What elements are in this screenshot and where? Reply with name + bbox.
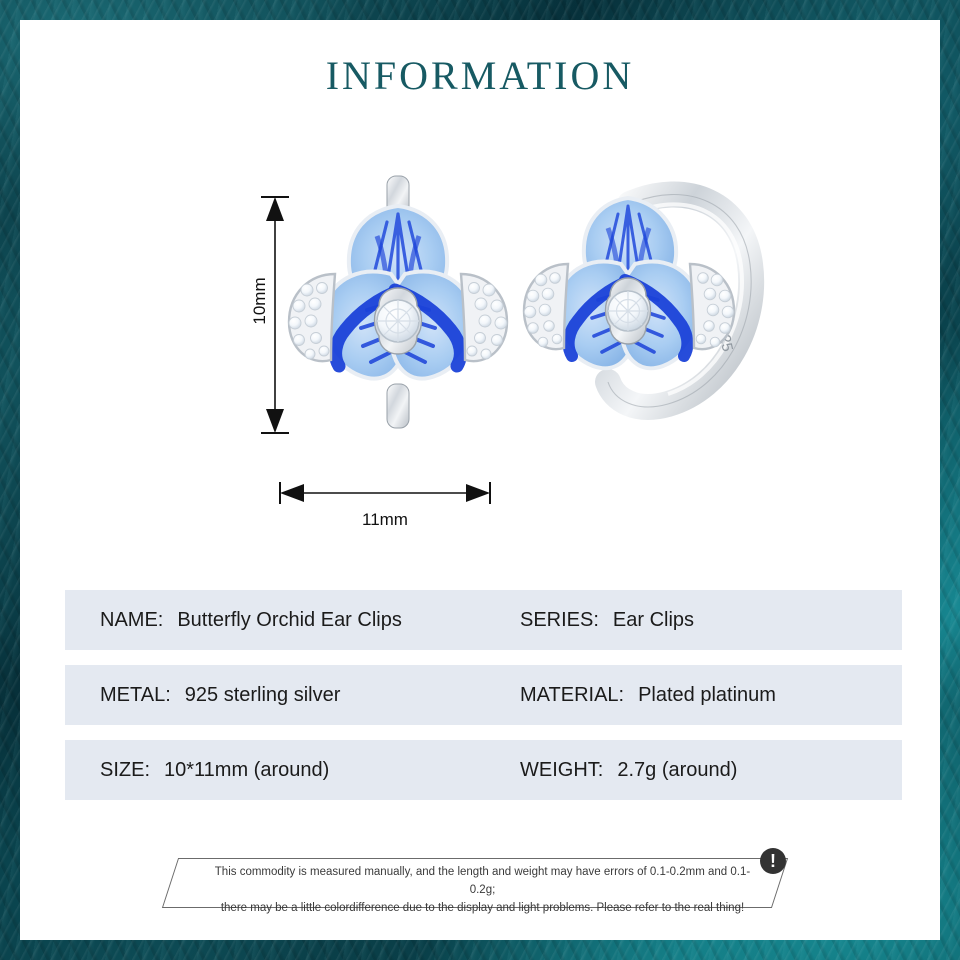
disclaimer-line-2: there may be a little colordifference du…: [210, 900, 755, 918]
spec-value: 10*11mm (around): [164, 759, 329, 782]
white-info-card: INFORMATION 10mm: [20, 20, 940, 940]
spec-key: SERIES:: [520, 609, 599, 632]
spec-cell-weight: WEIGHT: 2.7g (around): [520, 759, 737, 782]
spec-cell-name: NAME: Butterfly Orchid Ear Clips: [100, 609, 520, 632]
horizontal-dimension: 11mm: [278, 480, 508, 540]
spec-key: METAL:: [100, 684, 171, 707]
spec-value: 2.7g (around): [617, 759, 737, 782]
product-information-page: INFORMATION 10mm: [0, 0, 960, 960]
table-row: METAL: 925 sterling silver MATERIAL: Pla…: [65, 665, 902, 725]
horizontal-dimension-label: 11mm: [278, 510, 492, 530]
disclaimer-banner: This commodity is measured manually, and…: [170, 848, 810, 918]
disclaimer-text: This commodity is measured manually, and…: [210, 864, 755, 917]
product-photo-area: 10mm 11mm: [20, 150, 940, 570]
spec-value: Butterfly Orchid Ear Clips: [177, 609, 402, 632]
orchid-flower-front-svg: [275, 170, 525, 440]
spec-cell-metal: METAL: 925 sterling silver: [100, 684, 520, 707]
exclamation-icon: !: [760, 848, 786, 874]
spec-key: NAME:: [100, 609, 163, 632]
spec-value: 925 sterling silver: [185, 684, 341, 707]
page-title: INFORMATION: [20, 52, 940, 99]
spec-key: SIZE:: [100, 759, 150, 782]
table-row: SIZE: 10*11mm (around) WEIGHT: 2.7g (aro…: [65, 740, 902, 800]
spec-value: Plated platinum: [638, 684, 776, 707]
earring-side-view: S925: [510, 168, 770, 445]
spec-value: Ear Clips: [613, 609, 694, 632]
spec-key: MATERIAL:: [520, 684, 624, 707]
spec-cell-size: SIZE: 10*11mm (around): [100, 759, 520, 782]
earring-front-view: [275, 170, 525, 445]
spec-cell-series: SERIES: Ear Clips: [520, 609, 694, 632]
table-row: NAME: Butterfly Orchid Ear Clips SERIES:…: [65, 590, 902, 650]
orchid-huggie-side-svg: S925: [510, 168, 770, 440]
spec-cell-material: MATERIAL: Plated platinum: [520, 684, 776, 707]
specification-table: NAME: Butterfly Orchid Ear Clips SERIES:…: [65, 590, 902, 815]
vertical-dimension-label: 10mm: [250, 266, 270, 336]
disclaimer-line-1: This commodity is measured manually, and…: [210, 864, 755, 900]
spec-key: WEIGHT:: [520, 759, 603, 782]
horizontal-dimension-arrow: [278, 480, 492, 508]
